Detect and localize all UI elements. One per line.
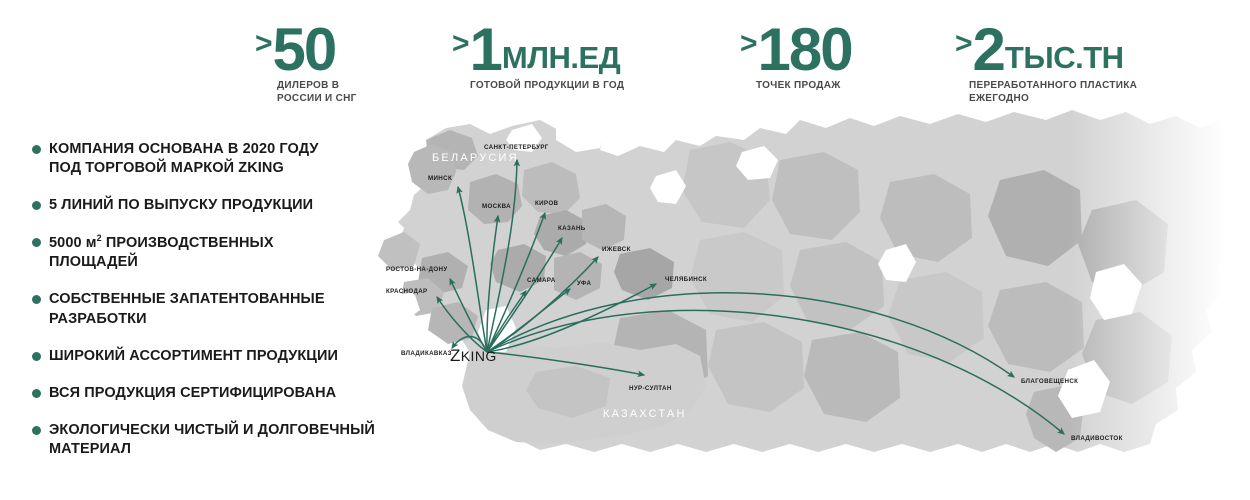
stat-plastic-unit: ТЫС.ТН [1005, 42, 1124, 73]
bullet-dot-icon [32, 389, 41, 398]
stat-block-points: > 180 ТОЧЕК ПРОДАЖ [740, 24, 853, 93]
stat-output-number: 1 [470, 24, 501, 75]
bullet-dot-icon [32, 238, 41, 247]
feature-text: КОМПАНИЯ ОСНОВАНА В 2020 ГОДУ ПОД ТОРГОВ… [49, 140, 318, 178]
stat-dealers-value: > 50 [255, 24, 357, 75]
stat-points-greater-than-icon: > [740, 29, 757, 59]
stat-output-caption: ГОТОВОЙ ПРОДУКЦИИ В ГОД [470, 80, 624, 93]
bullet-dot-icon [32, 201, 41, 210]
city-label-chelyabinsk: ЧЕЛЯБИНСК [665, 276, 707, 283]
bullet-dot-icon [32, 145, 41, 154]
list-item: СОБСТВЕННЫЕ ЗАПАТЕНТОВАННЫЕ РАЗРАБОТКИ [32, 290, 404, 328]
stats-row: > 50 ДИЛЕРОВ В РОССИИ И СНГ > 1 МЛН.ЕД Г… [0, 0, 1250, 112]
city-label-nur-sultan: НУР-СУЛТАН [629, 385, 672, 392]
stat-block-output: > 1 МЛН.ЕД ГОТОВОЙ ПРОДУКЦИИ В ГОД [452, 24, 624, 93]
stat-output-greater-than-icon: > [452, 29, 469, 59]
city-label-sankt-peterburg: САНКТ-ПЕТЕРБУРГ [484, 144, 549, 151]
stat-plastic-value: > 2 ТЫС.ТН [955, 24, 1137, 75]
stat-dealers-number: 50 [273, 24, 336, 75]
stat-dealers-caption: ДИЛЕРОВ В РОССИИ И СНГ [277, 80, 357, 105]
stat-output-value: > 1 МЛН.ЕД [452, 24, 624, 75]
bullet-dot-icon [32, 426, 41, 435]
stat-plastic-greater-than-icon: > [955, 29, 972, 59]
city-label-moskva: МОСКВА [482, 203, 511, 210]
stat-plastic-caption: ПЕРЕРАБОТАННОГО ПЛАСТИКА ЕЖЕГОДНО [969, 80, 1137, 105]
feature-text: СОБСТВЕННЫЕ ЗАПАТЕНТОВАННЫЕ РАЗРАБОТКИ [49, 290, 325, 328]
stat-dealers-greater-than-icon: > [255, 29, 272, 59]
list-item: ШИРОКИЙ АССОРТИМЕНТ ПРОДУКЦИИ [32, 347, 404, 366]
hub-label-z: Z [450, 346, 461, 365]
city-label-blagoveshchensk: БЛАГОВЕЩЕНСК [1021, 378, 1078, 385]
map-hub-label-zking: ZKING [450, 346, 497, 366]
stat-block-dealers: > 50 ДИЛЕРОВ В РОССИИ И СНГ [255, 24, 357, 105]
stat-points-caption: ТОЧЕК ПРОДАЖ [756, 80, 853, 93]
feature-list: КОМПАНИЯ ОСНОВАНА В 2020 ГОДУ ПОД ТОРГОВ… [32, 140, 404, 477]
bullet-dot-icon [32, 295, 41, 304]
city-label-kazan: КАЗАНЬ [558, 225, 586, 232]
list-item: 5000 м2 ПРОИЗВОДСТВЕННЫХ ПЛОЩАДЕЙ [32, 233, 404, 272]
stat-points-number: 180 [758, 24, 852, 75]
stat-output-unit: МЛН.ЕД [502, 42, 620, 73]
city-label-kirov: КИРОВ [535, 200, 558, 207]
bullet-dot-icon [32, 352, 41, 361]
city-label-ufa: УФА [577, 280, 591, 287]
list-item: 5 ЛИНИЙ ПО ВЫПУСКУ ПРОДУКЦИИ [32, 196, 404, 215]
list-item: ЭКОЛОГИЧЕСКИ ЧИСТЫЙ И ДОЛГОВЕЧНЫЙ МАТЕРИ… [32, 421, 404, 459]
city-label-samara: САМАРА [527, 277, 556, 284]
feature-text: ШИРОКИЙ АССОРТИМЕНТ ПРОДУКЦИИ [49, 347, 338, 366]
feature-text: ЭКОЛОГИЧЕСКИ ЧИСТЫЙ И ДОЛГОВЕЧНЫЙ МАТЕРИ… [49, 421, 375, 459]
city-label-izhevsk: ИЖЕВСК [602, 246, 631, 253]
city-label-minsk: МИНСК [428, 175, 452, 182]
feature-text: ВСЯ ПРОДУКЦИЯ СЕРТИФИЦИРОВАНА [49, 384, 336, 403]
list-item: ВСЯ ПРОДУКЦИЯ СЕРТИФИЦИРОВАНА [32, 384, 404, 403]
list-item: КОМПАНИЯ ОСНОВАНА В 2020 ГОДУ ПОД ТОРГОВ… [32, 140, 404, 178]
stat-points-value: > 180 [740, 24, 853, 75]
city-label-vladivostok: ВЛАДИВОСТОК [1071, 435, 1123, 442]
region-label-belarus: БЕЛАРУСИЯ [432, 152, 519, 164]
feature-text: 5000 м2 ПРОИЗВОДСТВЕННЫХ ПЛОЩАДЕЙ [49, 233, 274, 272]
stat-block-plastic: > 2 ТЫС.ТН ПЕРЕРАБОТАННОГО ПЛАСТИКА ЕЖЕГ… [955, 24, 1137, 105]
city-label-vladikavkaz: ВЛАДИКАВКАЗ [401, 350, 452, 357]
stat-plastic-number: 2 [973, 24, 1004, 75]
hub-label-rest: KING [461, 348, 497, 364]
region-label-kazakhstan: КАЗАХСТАН [603, 408, 687, 420]
feature-text: 5 ЛИНИЙ ПО ВЫПУСКУ ПРОДУКЦИИ [49, 196, 313, 215]
